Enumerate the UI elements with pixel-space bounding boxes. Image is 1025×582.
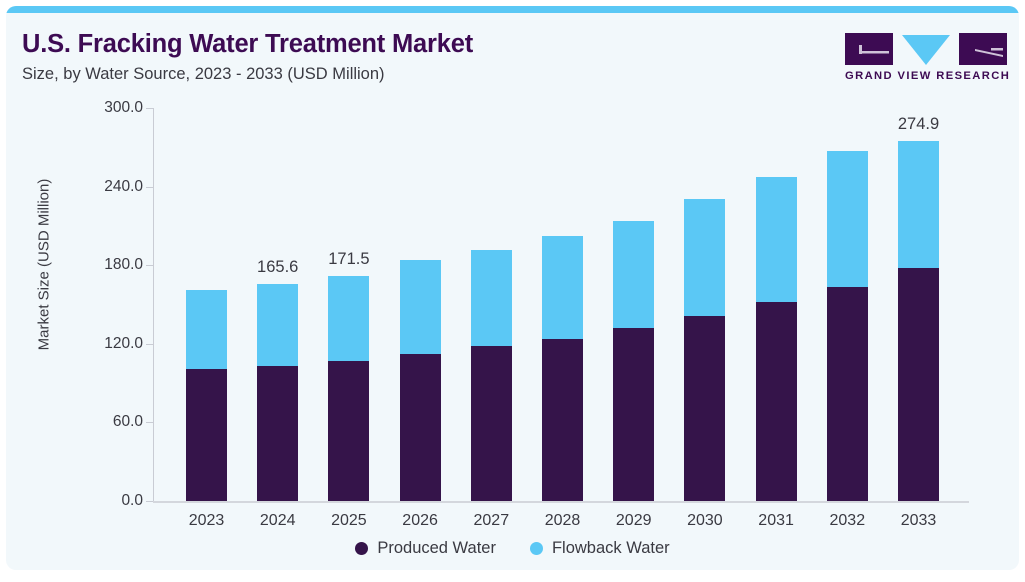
x-axis-tick-label: 2025: [313, 512, 384, 530]
x-axis-tick-label: 2029: [598, 512, 669, 530]
bar-segment-flowback-water[interactable]: [756, 177, 797, 301]
legend-label: Flowback Water: [552, 539, 670, 558]
bar-segment-flowback-water[interactable]: [471, 250, 512, 346]
y-axis-tick-label: 0.0: [43, 492, 143, 510]
x-axis-line: [153, 501, 969, 503]
bar-value-label: 165.6: [257, 258, 298, 277]
bar-stack[interactable]: [257, 284, 298, 501]
bar-segment-flowback-water[interactable]: [684, 199, 725, 316]
y-axis-tick-label: 120.0: [43, 335, 143, 353]
bar-stack[interactable]: [827, 151, 868, 501]
bar-segment-flowback-water[interactable]: [328, 276, 369, 361]
y-axis-line: [153, 108, 154, 501]
bar-stack[interactable]: [328, 276, 369, 501]
bar-stack[interactable]: [542, 236, 583, 501]
bar-segment-produced-water[interactable]: [400, 354, 441, 501]
bar-stack[interactable]: [613, 221, 654, 501]
y-axis-tick-label: 60.0: [43, 413, 143, 431]
legend-label: Produced Water: [377, 539, 496, 558]
x-axis-tick-label: 2024: [242, 512, 313, 530]
legend-item[interactable]: Flowback Water: [530, 539, 670, 558]
bar-value-label: 274.9: [898, 115, 939, 134]
x-axis-tick-label: 2027: [456, 512, 527, 530]
y-axis-tick-mark: [146, 108, 153, 109]
x-axis-tick-label: 2031: [741, 512, 812, 530]
bar-segment-flowback-water[interactable]: [186, 290, 227, 369]
bar-segment-produced-water[interactable]: [827, 287, 868, 501]
y-axis-tick-label: 240.0: [43, 178, 143, 196]
bar-segment-flowback-water[interactable]: [613, 221, 654, 328]
bar-stack[interactable]: [471, 250, 512, 501]
chart-plot-area: Market Size (USD Million) 0.060.0120.018…: [6, 6, 1019, 570]
bar-segment-produced-water[interactable]: [328, 361, 369, 501]
legend-swatch-icon: [355, 542, 368, 555]
bar-segment-flowback-water[interactable]: [827, 151, 868, 287]
x-axis-tick-label: 2028: [527, 512, 598, 530]
bar-segment-produced-water[interactable]: [471, 346, 512, 501]
bar-segment-produced-water[interactable]: [684, 316, 725, 501]
bar-stack[interactable]: [400, 260, 441, 501]
bar-segment-produced-water[interactable]: [186, 369, 227, 501]
y-axis-tick-mark: [146, 422, 153, 423]
chart-card: U.S. Fracking Water Treatment Market Siz…: [6, 6, 1019, 570]
x-axis-tick-label: 2023: [171, 512, 242, 530]
y-axis-tick-mark: [146, 344, 153, 345]
y-axis-tick-label: 300.0: [43, 99, 143, 117]
y-axis-tick-mark: [146, 501, 153, 502]
bar-segment-produced-water[interactable]: [756, 302, 797, 501]
x-axis-tick-label: 2032: [812, 512, 883, 530]
bar-stack[interactable]: [898, 141, 939, 501]
x-axis-tick-label: 2030: [669, 512, 740, 530]
bar-segment-produced-water[interactable]: [898, 268, 939, 501]
bar-segment-flowback-water[interactable]: [542, 236, 583, 338]
chart-legend: Produced WaterFlowback Water: [6, 539, 1019, 558]
bar-segment-flowback-water[interactable]: [898, 141, 939, 269]
bar-segment-produced-water[interactable]: [257, 366, 298, 501]
bar-stack[interactable]: [684, 199, 725, 501]
bar-segment-produced-water[interactable]: [542, 339, 583, 501]
bar-stack[interactable]: [186, 290, 227, 501]
legend-swatch-icon: [530, 542, 543, 555]
y-axis-tick-label: 180.0: [43, 256, 143, 274]
x-axis-tick-label: 2033: [883, 512, 954, 530]
bar-segment-flowback-water[interactable]: [257, 284, 298, 366]
legend-item[interactable]: Produced Water: [355, 539, 496, 558]
y-axis-tick-mark: [146, 265, 153, 266]
bar-value-label: 171.5: [328, 250, 369, 269]
bar-segment-produced-water[interactable]: [613, 328, 654, 501]
bar-stack[interactable]: [756, 177, 797, 501]
y-axis-tick-mark: [146, 187, 153, 188]
x-axis-tick-label: 2026: [385, 512, 456, 530]
bar-segment-flowback-water[interactable]: [400, 260, 441, 354]
